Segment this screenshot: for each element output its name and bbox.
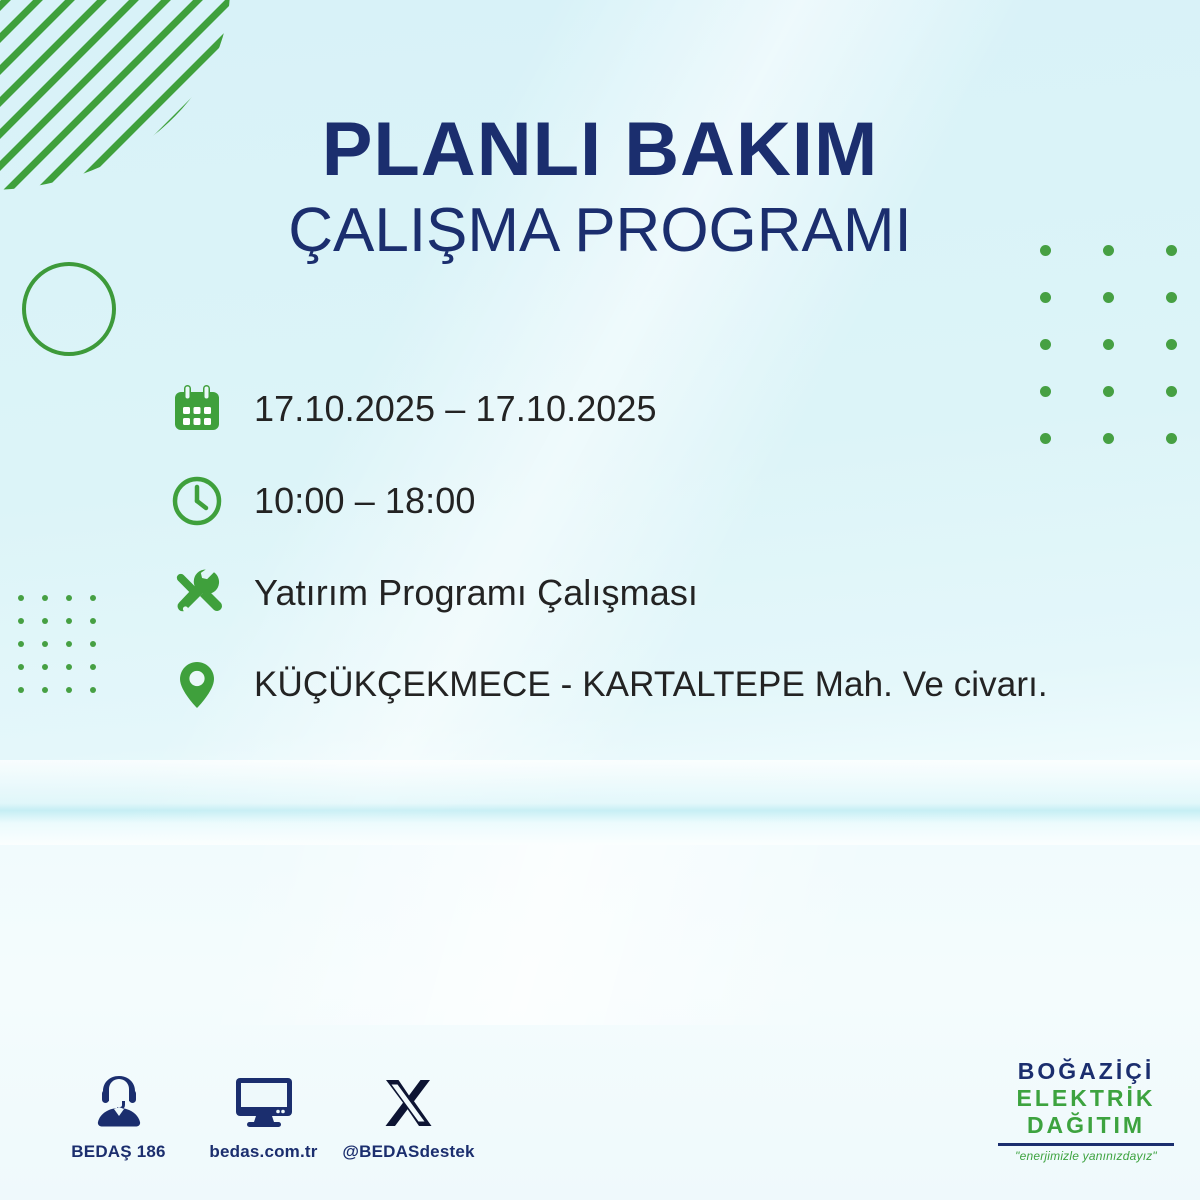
decorative-dot	[66, 687, 72, 693]
calendar-icon	[166, 378, 228, 440]
decorative-dot	[1166, 386, 1177, 397]
logo-line-elektrik: ELEKTRİK	[996, 1085, 1176, 1112]
decorative-dot	[66, 664, 72, 670]
circle-outline-decoration	[22, 262, 116, 356]
info-row-text: KÜÇÜKÇEKMECE - KARTALTEPE Mah. Ve civarı…	[254, 665, 1048, 705]
decorative-dot	[1040, 292, 1051, 303]
decorative-dot	[1103, 292, 1114, 303]
title-main-line: PLANLI BAKIM	[0, 112, 1200, 188]
decorative-dot	[90, 687, 96, 693]
logo-line-bogazici: BOĞAZİÇİ	[996, 1058, 1176, 1085]
info-row-text: Yatırım Programı Çalışması	[254, 572, 698, 614]
decorative-dot	[90, 618, 96, 624]
decorative-dot	[66, 641, 72, 647]
decorative-dot	[42, 618, 48, 624]
footer-contacts: BEDAŞ 186 bedas.com.tr	[46, 1068, 481, 1162]
decorative-dot	[1040, 339, 1051, 350]
decorative-dot	[66, 595, 72, 601]
decorative-dot	[42, 641, 48, 647]
headset-operator-icon	[46, 1068, 191, 1130]
clock-icon	[166, 470, 228, 532]
monitor-icon	[191, 1068, 336, 1130]
decorative-dot	[90, 595, 96, 601]
decorative-dot	[18, 664, 24, 670]
decorative-dot	[18, 595, 24, 601]
bedas-logo: BOĞAZİÇİ ELEKTRİK DAĞITIM "enerjimizle y…	[996, 1058, 1176, 1163]
info-row-work-type: Yatırım Programı Çalışması	[166, 562, 1126, 624]
location-pin-icon	[166, 654, 228, 716]
decorative-dot	[1166, 292, 1177, 303]
x-social-icon	[336, 1068, 481, 1130]
contact-label: bedas.com.tr	[191, 1142, 336, 1162]
decorative-dot	[1166, 339, 1177, 350]
info-row-text: 10:00 – 18:00	[254, 480, 476, 522]
tools-icon	[166, 562, 228, 624]
page-title: PLANLI BAKIM ÇALIŞMA PROGRAMI	[0, 112, 1200, 263]
info-list: 17.10.2025 – 17.10.2025 10:00 – 18:00 Ya…	[166, 378, 1126, 716]
info-row-date-range: 17.10.2025 – 17.10.2025	[166, 378, 1126, 440]
contact-website[interactable]: bedas.com.tr	[191, 1068, 336, 1162]
title-sub-line: ÇALIŞMA PROGRAMI	[0, 198, 1200, 263]
info-row-text: 17.10.2025 – 17.10.2025	[254, 388, 657, 430]
decorative-dot	[66, 618, 72, 624]
decorative-dot	[1103, 339, 1114, 350]
contact-label: BEDAŞ 186	[46, 1142, 191, 1162]
background-lower-sheen	[0, 845, 1200, 1025]
contact-x-social[interactable]: @BEDASdestek	[336, 1068, 481, 1162]
contact-call-center[interactable]: BEDAŞ 186	[46, 1068, 191, 1162]
logo-divider	[998, 1143, 1174, 1146]
decorative-dot	[18, 687, 24, 693]
decorative-dot	[1166, 433, 1177, 444]
decorative-dot	[42, 664, 48, 670]
logo-line-dagitim: DAĞITIM	[996, 1112, 1176, 1139]
info-row-location: KÜÇÜKÇEKMECE - KARTALTEPE Mah. Ve civarı…	[166, 654, 1126, 716]
contact-label: @BEDASdestek	[336, 1142, 481, 1162]
decorative-dot	[18, 641, 24, 647]
decorative-dot	[42, 595, 48, 601]
background-divider-band	[0, 760, 1200, 850]
decorative-dot	[90, 664, 96, 670]
info-row-time-range: 10:00 – 18:00	[166, 470, 1126, 532]
decorative-dot	[90, 641, 96, 647]
decorative-dot	[18, 618, 24, 624]
decorative-dot	[42, 687, 48, 693]
logo-tagline: "enerjimizle yanınızdayız"	[996, 1149, 1176, 1163]
